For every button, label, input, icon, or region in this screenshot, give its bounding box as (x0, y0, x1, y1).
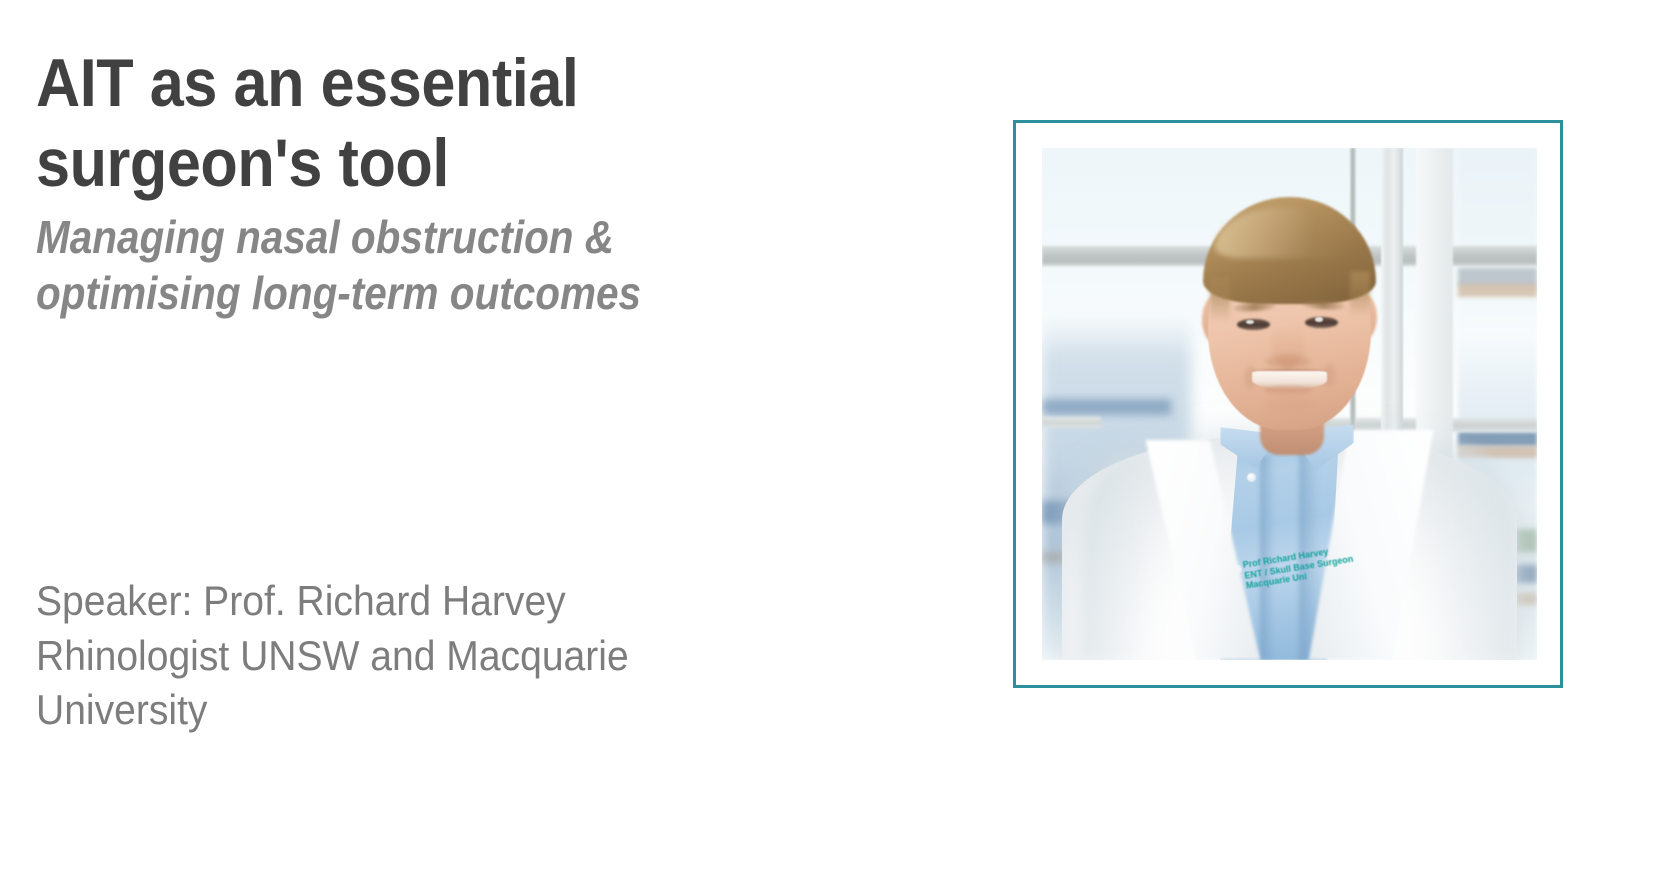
speaker-photo-frame: Prof Richard Harvey ENT / Skull Base Sur… (1013, 120, 1563, 688)
speaker-affiliation-line-1: Rhinologist UNSW and Macquarie (36, 629, 780, 684)
title-slide: AIT as an essential surgeon's tool Manag… (0, 0, 1674, 888)
title-text-block: AIT as an essential surgeon's tool Manag… (36, 44, 836, 321)
sideburn-left (1210, 276, 1230, 322)
page-title: AIT as an essential surgeon's tool (36, 44, 756, 203)
speaker-name: Speaker: Prof. Richard Harvey (36, 574, 780, 629)
speaker-affiliation-line-2: University (36, 683, 780, 738)
eye-highlight-right (1315, 317, 1323, 322)
sideburn-right (1350, 271, 1370, 317)
nose-shadow (1266, 355, 1311, 367)
speaker-block: Speaker: Prof. Richard Harvey Rhinologis… (36, 574, 836, 738)
page-subtitle: Managing nasal obstruction & optimising … (36, 209, 740, 321)
chin (1267, 396, 1312, 411)
person-figure: Prof Richard Harvey ENT / Skull Base Sur… (1042, 148, 1537, 660)
lower-lip (1264, 386, 1314, 394)
speaker-portrait-photo: Prof Richard Harvey ENT / Skull Base Sur… (1042, 148, 1537, 660)
